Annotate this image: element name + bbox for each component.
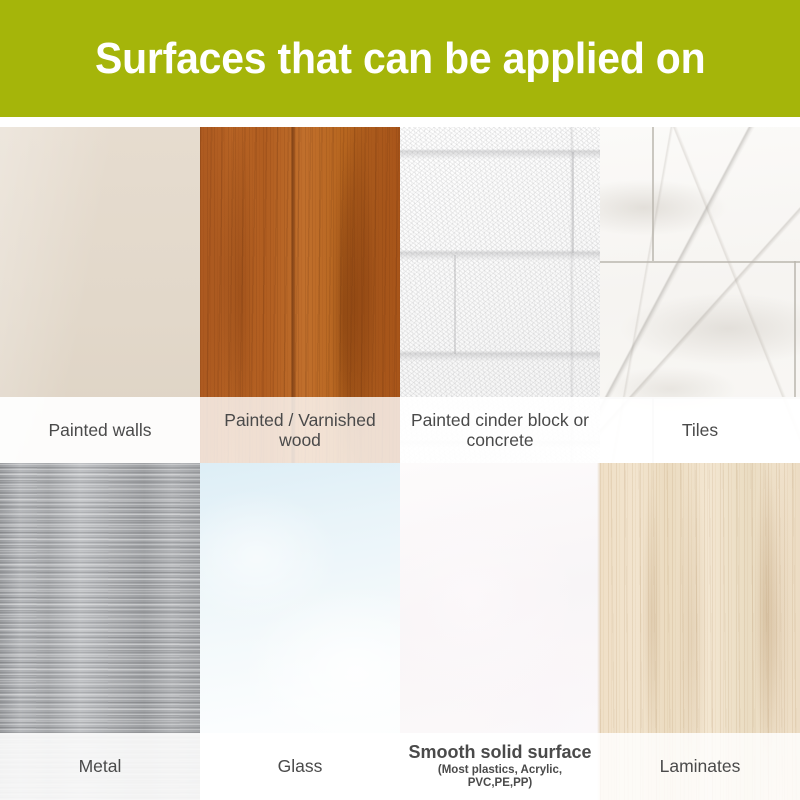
surface-label-tiles: Tiles bbox=[600, 397, 800, 463]
grout-line-vertical bbox=[794, 261, 796, 397]
surface-cell-tiles[interactable]: Tiles bbox=[600, 127, 800, 463]
grout-line-vertical bbox=[652, 127, 654, 261]
surface-cell-painted-cinder-block[interactable]: Painted cinder block or concrete bbox=[400, 127, 600, 463]
mortar-joint-vertical bbox=[572, 152, 574, 253]
surface-label-glass: Glass bbox=[200, 733, 400, 800]
surface-grid: Painted walls Painted / Varnished wood P… bbox=[0, 127, 800, 800]
surface-cell-painted-varnished-wood[interactable]: Painted / Varnished wood bbox=[200, 127, 400, 463]
label-text: Glass bbox=[278, 756, 323, 776]
surface-cell-painted-walls[interactable]: Painted walls bbox=[0, 127, 200, 463]
label-text: Metal bbox=[79, 756, 122, 776]
surface-cell-glass[interactable]: Glass bbox=[200, 463, 400, 800]
surfaces-infographic: Surfaces that can be applied on Painted … bbox=[0, 0, 800, 800]
label-subtext: (Most plastics, Acrylic, PVC,PE,PP) bbox=[406, 764, 594, 792]
surface-cell-smooth-solid-surface[interactable]: Smooth solid surface (Most plastics, Acr… bbox=[400, 463, 600, 800]
mortar-joint-vertical bbox=[454, 255, 456, 354]
page-title: Surfaces that can be applied on bbox=[95, 37, 705, 81]
grout-line-horizontal bbox=[600, 261, 800, 263]
label-text: Laminates bbox=[660, 756, 741, 776]
surface-label-metal: Metal bbox=[0, 733, 200, 800]
header-banner: Surfaces that can be applied on bbox=[0, 0, 800, 117]
label-text: Tiles bbox=[682, 420, 718, 440]
surface-label-painted-varnished-wood: Painted / Varnished wood bbox=[200, 397, 400, 463]
label-text: Smooth solid surface bbox=[408, 742, 591, 763]
surface-label-smooth-solid-surface: Smooth solid surface (Most plastics, Acr… bbox=[400, 733, 600, 800]
surface-label-painted-cinder-block: Painted cinder block or concrete bbox=[400, 397, 600, 463]
surface-label-painted-walls: Painted walls bbox=[0, 397, 200, 463]
label-text: Painted walls bbox=[48, 420, 151, 440]
surface-label-laminates: Laminates bbox=[600, 733, 800, 800]
label-text: Painted cinder block or concrete bbox=[406, 410, 594, 451]
surface-cell-laminates[interactable]: Laminates bbox=[600, 463, 800, 800]
label-text: Painted / Varnished wood bbox=[206, 410, 394, 451]
surface-cell-metal[interactable]: Metal bbox=[0, 463, 200, 800]
